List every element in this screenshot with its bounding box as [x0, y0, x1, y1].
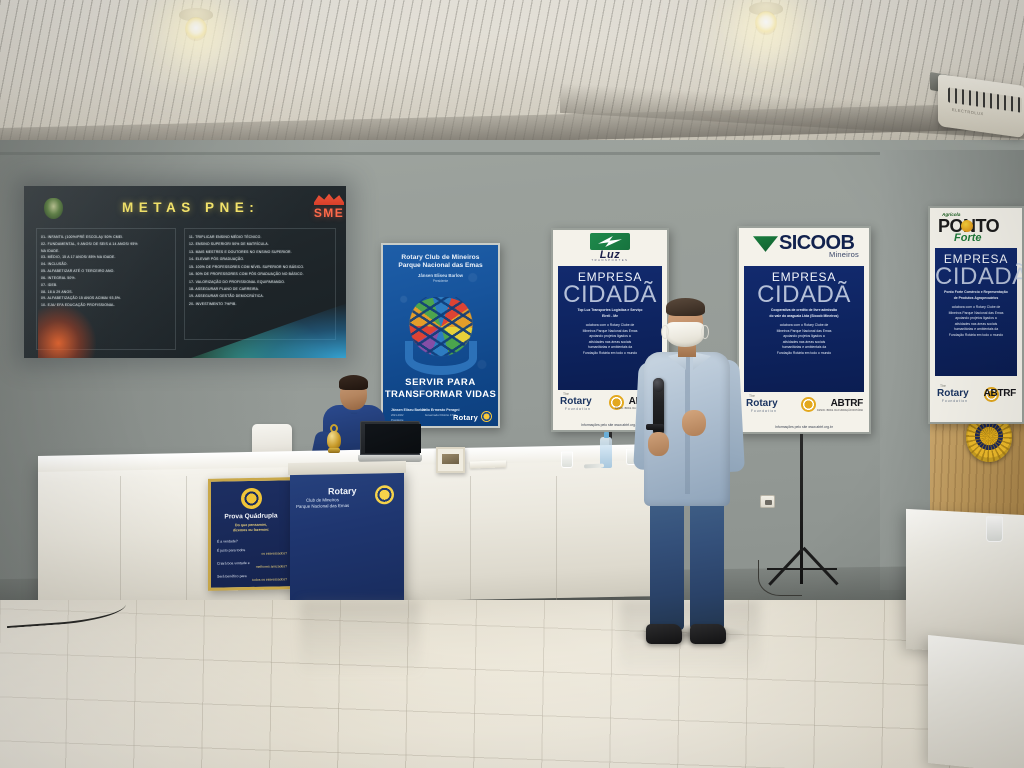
sponsor-body-line: Fundação Rotária em todo o mundo — [744, 351, 864, 357]
banner-secondary-name: Jânsen Eliseu Barlow — [391, 408, 426, 412]
rotary-wheel-icon — [241, 488, 262, 509]
seated-person-hair — [339, 375, 368, 390]
banner-slogan-line1: SERVIR PARA — [383, 377, 498, 388]
rotary-wheel-icon — [375, 485, 394, 504]
four-way-test-item: Criará boa vontade e melhores amizades? — [217, 560, 287, 569]
luz-brand-sub: TRANSPORTES — [553, 259, 667, 262]
laptop-lid — [360, 421, 420, 455]
banner-club-line2: Parque Nacional das Emas — [383, 262, 498, 269]
sponsor-banner-ponto-forte: Agrícola PONTO Forte EMPRESA CIDADÃ Pont… — [928, 206, 1024, 424]
foundation-name: Rotary — [560, 396, 592, 407]
luz-logo-icon — [590, 233, 630, 250]
four-way-test-item: É a verdade? — [217, 538, 287, 543]
speaker-legs — [650, 498, 726, 630]
lectern: Rotary Club de Mineiros Parque Nacional … — [290, 469, 404, 611]
slide-goal-item: 07- IDEB. — [41, 282, 171, 289]
tablecloth-fold — [556, 476, 557, 602]
power-cable — [758, 560, 802, 596]
slide-goal-item: 02- FUNDAMENTAL, 9 ANOS/ DE SEIS A 14 AN… — [41, 241, 171, 248]
lectern-line1: Club de Mineiros — [306, 497, 339, 503]
sme-logo-text: SME — [306, 206, 346, 220]
wristwatch — [646, 424, 664, 430]
laptop-screen — [365, 424, 421, 453]
foundation-sub: Foundation — [942, 399, 968, 403]
slide-goal-item: 19- ASSEGURAR GESTÃO DEMOCRÁTICA. — [189, 293, 331, 300]
ac-brand-label: ELECTROLUX — [952, 107, 984, 116]
lectern-line2: Parque Nacional das Emas — [296, 503, 349, 509]
speaker-hair — [666, 298, 705, 316]
sponsor-message-panel: EMPRESA CIDADÃ Ponto Forte Comércio e Re… — [935, 248, 1017, 376]
foundation-name: Rotary — [746, 398, 778, 409]
foundation-sub: Foundation — [565, 407, 591, 411]
rotary-club-banner: Rotary Club de Mineiros Parque Nacional … — [381, 243, 500, 428]
sponsor-message-panel: EMPRESA CIDADÃ Cooperativa de credito de… — [744, 266, 864, 392]
slide-goal-item: 03- MÉDIO, 15 A 17 ANOS/ 85% NA IDADE. — [41, 254, 171, 261]
coat-of-arms-logo — [44, 198, 63, 219]
ponto-brand-text-2: Forte — [954, 232, 982, 244]
slide-title: METAS PNE: — [122, 200, 259, 215]
lectern-logo-text: Rotary — [328, 486, 357, 497]
sponsor-headline-2: CIDADÃ — [744, 284, 864, 306]
rotary-bell — [326, 424, 342, 456]
slide-goal-item: 08- 18 A 29 ANOS. — [41, 289, 171, 296]
speaker-hand-right — [682, 410, 706, 436]
four-way-test-sign: Prova Quádrupla Do que pensamos, dizemos… — [208, 477, 294, 591]
speaker-shoe-left — [646, 624, 682, 644]
face-mask-icon — [666, 322, 704, 347]
rotary-wheel-icon — [801, 397, 816, 412]
ponto-sun-icon — [961, 220, 973, 232]
sponsor-footer: The Rotary Foundation ABTRF ASSOC. BRAS.… — [739, 394, 869, 416]
drinking-glass — [561, 451, 573, 468]
sponsor-company-line1: Ponto Forte Comércio e Representação — [935, 290, 1017, 296]
floor-reflection — [300, 600, 420, 678]
abtrf-sub-text: ASSOC. BRAS. DA FUNDAÇÃO ROTÁRIA — [817, 409, 863, 412]
photo-scene: ELECTROLUX METAS PNE: SME 01- INFANTIL (… — [0, 0, 1024, 768]
four-way-test-sub2: dizemos ou fazemos: — [211, 527, 291, 533]
slide-background-glow — [38, 304, 96, 358]
speaker-shoe-right — [690, 624, 726, 644]
hand-icon — [405, 341, 477, 375]
light-bulb-icon — [185, 17, 207, 41]
four-way-test-item: É justo para todos os interessados? — [217, 547, 287, 556]
banner-president-role: Presidente — [383, 279, 498, 283]
foundation-name: Rotary — [937, 388, 969, 399]
abtrf-logo-text: ABTRF — [984, 388, 1016, 399]
sicoob-brand-sub: Mineiros — [829, 250, 859, 259]
sponsor-headline-2: CIDADÃ — [935, 266, 1017, 288]
slide-goal-item: 14- ELEVAR PÓS GRADUAÇÃO. — [189, 256, 331, 263]
slide-goal-item: 04- INCLUSÃO. — [41, 261, 171, 268]
tablecloth-fold — [120, 476, 121, 602]
sponsor-headline-2: CIDADÃ — [558, 284, 662, 306]
side-table-upper — [906, 509, 1024, 655]
sponsor-banner-sicoob: SICOOB Mineiros EMPRESA CIDADÃ Cooperati… — [737, 226, 871, 434]
rotary-logo-text: Rotary — [453, 413, 478, 422]
floor-reflection-sheen — [0, 600, 1024, 768]
bell-base — [328, 448, 340, 453]
four-way-test-item: Será benéfico para todos os interessados… — [217, 573, 287, 582]
sponsor-body-line: Fundação Rotária em todo o mundo — [558, 351, 662, 357]
slide-goal-item: 09- ALFABETIZAÇÃO 15 ANOS ACIMA/ 93,5%. — [41, 295, 171, 302]
foundation-sub: Foundation — [751, 409, 777, 413]
sponsor-site-text: Informações pelo site www.abtrf.org.br — [739, 425, 869, 429]
abtrf-logo-text: ABTRF — [831, 398, 863, 409]
banner-president-name: Jânsen Eliseu Barlow — [383, 273, 498, 278]
speaker-leg-right — [690, 498, 724, 630]
item-text: Criará boa vontade e — [217, 561, 250, 566]
banner-secondary-year: 2021-2022 — [391, 414, 403, 417]
slide-goal-item: 20- INVESTIMENTO 7%PIB. — [189, 301, 331, 308]
light-bulb-icon — [755, 11, 777, 35]
slide-goal-item: 05- ALFABETIZAR ATÉ O TERCEIRO ANO. — [41, 268, 171, 275]
slide-goal-item: 13- MAIS MESTRES E DOUTORES NO ENSINO SU… — [189, 249, 331, 256]
slide-goal-item: 01- INFANTIL (100%/PRÉ ESCOLA)/ 50% CMEI… — [41, 234, 171, 241]
drinking-glass — [986, 516, 1003, 542]
slide-goal-item: 16- 50% DE PROFESSORES COM PÓS GRADUAÇÃO… — [189, 271, 331, 278]
tablecloth-fold — [186, 476, 187, 602]
papers — [470, 460, 506, 468]
tablecloth-fold — [470, 476, 471, 602]
sme-mark-icon — [314, 193, 344, 205]
rotary-wheel-icon — [481, 411, 492, 422]
banner-slogan-line2: TRANSFORMAR VIDAS — [383, 389, 498, 400]
slide-goal-item: 12- ENSINO SUPERIOR/ 50% DE MATRÍCULA. — [189, 241, 331, 248]
sponsor-footer: The Rotary Foundation ABTRF — [930, 384, 1022, 406]
slide-goal-item: 18- ASSEGURAR PLANO DE CARREIRA. — [189, 286, 331, 293]
speaker-hand-left — [648, 432, 669, 456]
item-text: Será benéfico para — [217, 574, 247, 579]
sponsor-body-line: Fundação Rotária em todo o mundo — [935, 333, 1017, 339]
slide-goal-item: 06- INTEGRAL 50%. — [41, 275, 171, 282]
slide-goal-item: NA IDADE. — [41, 248, 171, 255]
wall-outlet — [760, 495, 775, 508]
photo-frame — [436, 447, 465, 473]
projected-slide: METAS PNE: SME 01- INFANTIL (100%/PRÉ ES… — [24, 186, 346, 358]
banner-club-line1: Rotary Club de Mineiros — [383, 254, 498, 261]
sme-logo: SME — [306, 193, 346, 225]
wall-seam-top — [0, 152, 1024, 155]
slide-goal-item: 15- 100% DE PROFESSORES COM NÍVEL SUPERI… — [189, 264, 331, 271]
lectern-top-surface — [288, 461, 406, 475]
item-text: É justo para todos — [217, 548, 245, 553]
slide-goal-item: 11- TRIPLICAR ENSINO MÉDIO TÉCNICO. — [189, 234, 331, 241]
item-text: É a verdade? — [217, 539, 238, 543]
laptop — [358, 421, 422, 463]
speaker-leg-left — [650, 498, 684, 630]
slide-goal-item: 17- VALORIZAÇÃO DO PROFISSIONAL EQUIPARA… — [189, 279, 331, 286]
sicoob-logo-icon — [753, 234, 778, 253]
four-way-test-title: Prova Quádrupla — [211, 512, 291, 521]
side-table-lower — [928, 635, 1024, 768]
bell-dome — [327, 431, 341, 449]
